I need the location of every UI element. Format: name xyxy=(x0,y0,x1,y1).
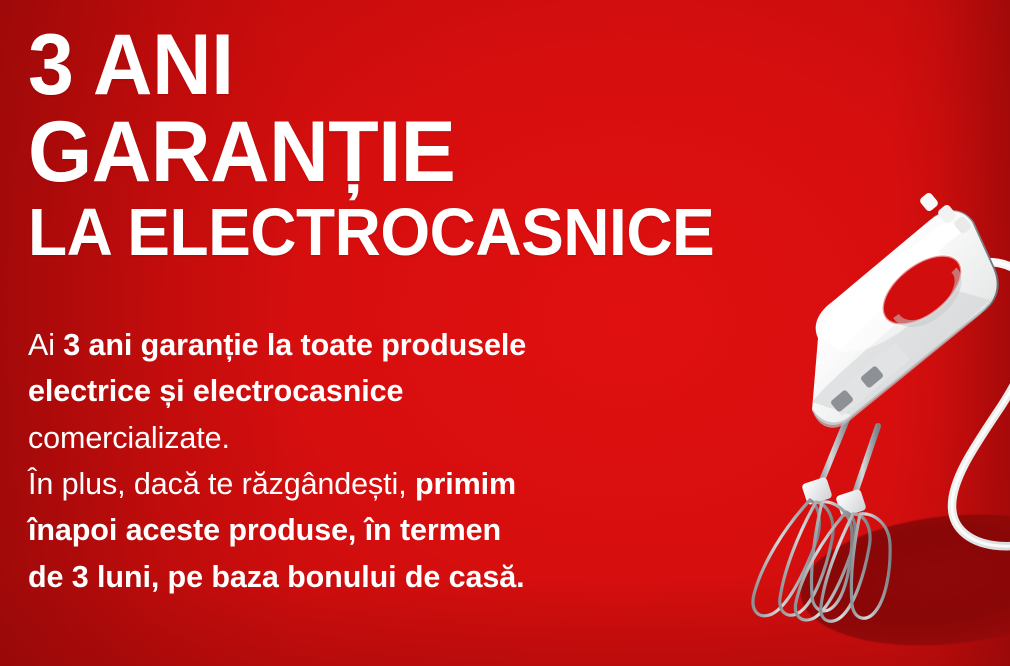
body-line-4-light: În plus, dacă te răzgândești, xyxy=(28,467,415,501)
promo-banner: 3 ANI GARANȚIE LA ELECTROCASNICE Ai 3 an… xyxy=(0,0,1010,666)
beaters xyxy=(753,412,890,621)
body-line-3: comercializate. xyxy=(28,415,728,461)
mixer-body xyxy=(808,191,998,427)
body-line-1-bold: 3 ani garanție la toate produsele xyxy=(63,328,526,362)
headline-line-1: 3 ANI xyxy=(28,26,758,105)
body-line-2-bold: electrice și electrocasnice xyxy=(28,374,403,408)
body-line-3-light: comercializate. xyxy=(28,421,230,455)
body-line-1-light: Ai xyxy=(28,328,63,362)
headline-block: 3 ANI GARANȚIE LA ELECTROCASNICE xyxy=(28,26,788,264)
headline-line-2: GARANȚIE xyxy=(28,113,758,192)
body-line-4-bold: primim xyxy=(415,467,516,501)
body-line-5: înapoi aceste produse, în termen xyxy=(28,507,728,553)
body-line-2: electrice și electrocasnice xyxy=(28,368,728,414)
body-copy-block: Ai 3 ani garanție la toate produsele ele… xyxy=(28,322,728,600)
body-line-5-bold: înapoi aceste produse, în termen xyxy=(28,513,501,547)
body-line-6: de 3 luni, pe baza bonului de casă. xyxy=(28,554,728,600)
body-line-4: În plus, dacă te răzgândești, primim xyxy=(28,461,728,507)
body-line-1: Ai 3 ani garanție la toate produsele xyxy=(28,322,728,368)
headline-line-3: LA ELECTROCASNICE xyxy=(28,202,754,264)
body-line-6-bold: de 3 luni, pe baza bonului de casă. xyxy=(28,560,524,594)
